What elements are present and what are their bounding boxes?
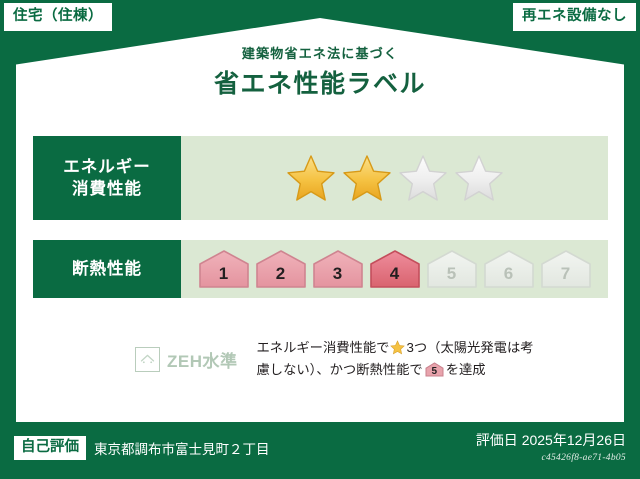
insulation-level-filled: 2 <box>255 249 307 289</box>
zeh-badge: ZEH水準 <box>135 347 238 372</box>
star-filled-icon <box>342 153 392 203</box>
energy-label-line1: エネルギー <box>63 156 151 178</box>
star-empty-icon <box>398 153 448 203</box>
zeh-desc-star-count: 3つ（太陽光発電 <box>406 340 506 355</box>
evaluation-date: 評価日 2025年12月26日 <box>476 432 626 450</box>
inline-house-level: 5 <box>425 367 444 377</box>
insulation-level-achieved: 4 <box>369 249 421 289</box>
insulation-level-number: 6 <box>504 265 513 289</box>
insulation-level-number: 2 <box>276 265 285 289</box>
building-type-tag: 住宅（住棟） <box>4 3 112 31</box>
energy-performance-panel <box>181 136 608 220</box>
insulation-level-number: 7 <box>561 265 570 289</box>
insulation-scale: 1234567 <box>198 249 592 289</box>
energy-performance-row: エネルギー 消費性能 <box>33 136 608 220</box>
star-rating <box>286 153 504 203</box>
insulation-level-filled: 3 <box>312 249 364 289</box>
label-title: 省エネ性能ラベル <box>0 64 640 100</box>
inline-star-icon <box>390 340 405 355</box>
insulation-level-empty: 7 <box>540 249 592 289</box>
insulation-performance-row: 断熱性能 1234567 <box>33 240 608 298</box>
star-empty-icon <box>454 153 504 203</box>
energy-performance-label: 住宅（住棟） 再エネ設備なし 建築物省エネ法に基づく 省エネ性能ラベル エネルギ… <box>0 0 640 479</box>
inline-house-badge: 5 <box>425 362 444 377</box>
zeh-desc-part3: を達成 <box>446 362 486 377</box>
footer-right: 評価日 2025年12月26日 c45426f8-ae71-4b05 <box>476 432 626 463</box>
zeh-desc-part1: エネルギー消費性能で <box>257 340 390 355</box>
energy-performance-label: エネルギー 消費性能 <box>33 136 181 220</box>
footer-band: 自己評価 東京都調布市富士見町２丁目 評価日 2025年12月26日 c4542… <box>0 422 640 479</box>
insulation-level-empty: 5 <box>426 249 478 289</box>
zeh-house-check-icon <box>135 347 160 372</box>
insulation-level-number: 4 <box>390 265 399 289</box>
renewable-equipment-tag: 再エネ設備なし <box>513 3 636 31</box>
insulation-level-filled: 1 <box>198 249 250 289</box>
insulation-level-number: 5 <box>447 265 456 289</box>
insulation-level-number: 1 <box>219 265 228 289</box>
insulation-performance-panel: 1234567 <box>181 240 608 298</box>
energy-label-line2: 消費性能 <box>63 178 151 200</box>
document-id: c45426f8-ae71-4b05 <box>476 453 626 463</box>
zeh-description: エネルギー消費性能で3つ（太陽光発電は考慮しない）、かつ断熱性能で5を達成 <box>257 337 545 380</box>
label-subtitle: 建築物省エネ法に基づく <box>0 43 640 62</box>
insulation-performance-label: 断熱性能 <box>33 240 181 298</box>
zeh-row: ZEH水準 エネルギー消費性能で3つ（太陽光発電は考慮しない）、かつ断熱性能で5… <box>33 330 608 388</box>
footer-left: 自己評価 東京都調布市富士見町２丁目 <box>14 436 270 460</box>
insulation-level-empty: 6 <box>483 249 535 289</box>
insulation-level-number: 3 <box>333 265 342 289</box>
zeh-label: ZEH水準 <box>167 347 238 372</box>
self-evaluation-chip: 自己評価 <box>14 436 86 460</box>
star-filled-icon <box>286 153 336 203</box>
property-address: 東京都調布市富士見町２丁目 <box>94 438 270 458</box>
